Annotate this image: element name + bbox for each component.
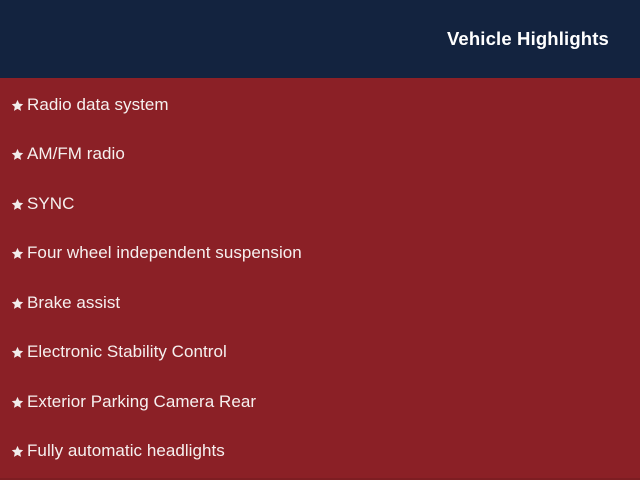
list-item-label: AM/FM radio: [27, 145, 125, 164]
list-item: Brake assist: [0, 290, 640, 316]
list-item-label: SYNC: [27, 195, 74, 214]
list-item-label: Brake assist: [27, 294, 120, 313]
slide-header: Vehicle Highlights: [0, 0, 640, 78]
list-item-label: Radio data system: [27, 96, 169, 115]
star-icon: [8, 244, 27, 263]
star-icon: [8, 145, 27, 164]
vehicle-highlights-list: Radio data system AM/FM radio SYNC: [0, 78, 640, 480]
list-item-label: Electronic Stability Control: [27, 343, 227, 362]
star-icon: [8, 393, 27, 412]
list-item: Electronic Stability Control: [0, 340, 640, 366]
vehicle-highlights-slide: Vehicle Highlights Radio data system AM/…: [0, 0, 640, 480]
list-item-label: Exterior Parking Camera Rear: [27, 393, 256, 412]
page-title: Vehicle Highlights: [447, 30, 609, 49]
star-icon: [8, 343, 27, 362]
list-item: Four wheel independent suspension: [0, 241, 640, 267]
list-item: SYNC: [0, 191, 640, 217]
star-icon: [8, 96, 27, 115]
star-icon: [8, 442, 27, 461]
list-item-label: Fully automatic headlights: [27, 442, 225, 461]
star-icon: [8, 294, 27, 313]
list-item: Exterior Parking Camera Rear: [0, 389, 640, 415]
list-item: AM/FM radio: [0, 142, 640, 168]
list-item: Fully automatic headlights: [0, 439, 640, 465]
star-icon: [8, 195, 27, 214]
list-item-label: Four wheel independent suspension: [27, 244, 302, 263]
list-item: Radio data system: [0, 92, 640, 118]
